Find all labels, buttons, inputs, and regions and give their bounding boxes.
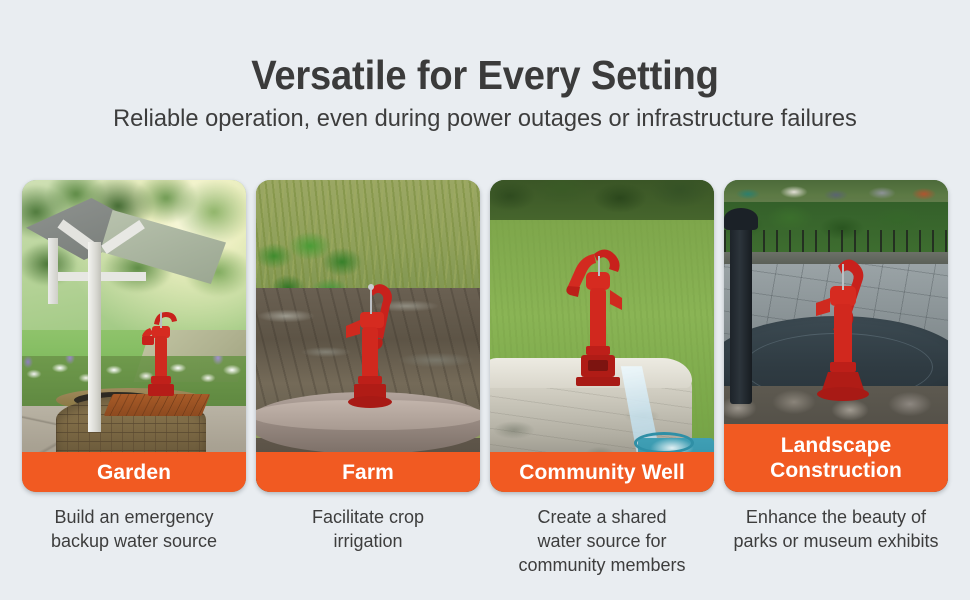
bucket-rim <box>634 432 694 454</box>
garden-post-rear <box>48 238 58 304</box>
caption-line-1: Enhance the beauty of <box>746 507 926 527</box>
card-label-garden: Garden <box>22 452 246 492</box>
garden-scene-image <box>22 180 246 492</box>
hand-pump-icon <box>340 272 396 414</box>
caption-community-well: Create a shared water source for communi… <box>490 505 714 577</box>
community-well-scene-image <box>490 180 714 492</box>
caption-line-1: Build an emergency <box>54 507 213 527</box>
caption-row: Build an emergency backup water source F… <box>22 505 948 577</box>
card-label-line-2: Construction <box>770 459 902 482</box>
hand-pump-icon <box>804 248 874 412</box>
use-case-card-farm[interactable]: Farm <box>256 180 480 492</box>
caption-line-3: community members <box>518 555 685 575</box>
farm-scene-image <box>256 180 480 492</box>
caption-line-1: Facilitate crop <box>312 507 424 527</box>
caption-line-2: irrigation <box>333 531 402 551</box>
card-label-farm: Farm <box>256 452 480 492</box>
use-case-card-row: Garden <box>22 180 948 492</box>
garden-post-front <box>88 242 101 432</box>
card-label-line-1: Landscape <box>781 434 892 457</box>
card-label-text: Garden <box>97 460 171 485</box>
landscape-iron-post <box>730 220 752 404</box>
hand-pump-icon <box>564 238 626 396</box>
card-label-text: Landscape Construction <box>770 433 902 483</box>
caption-line-2: parks or museum exhibits <box>733 531 938 551</box>
caption-line-1: Create a shared <box>537 507 666 527</box>
card-label-text: Farm <box>342 460 394 485</box>
heading-block: Versatile for Every Setting Reliable ope… <box>0 52 970 133</box>
use-case-card-landscape-construction[interactable]: Landscape Construction <box>724 180 948 492</box>
use-case-card-garden[interactable]: Garden <box>22 180 246 492</box>
caption-farm: Facilitate crop irrigation <box>256 505 480 577</box>
caption-landscape-construction: Enhance the beauty of parks or museum ex… <box>724 505 948 577</box>
promo-banner: Versatile for Every Setting Reliable ope… <box>0 0 970 600</box>
page-subtitle: Reliable operation, even during power ou… <box>7 104 962 133</box>
page-title: Versatile for Every Setting <box>34 52 936 98</box>
caption-line-2: backup water source <box>51 531 217 551</box>
card-label-landscape-construction: Landscape Construction <box>724 424 948 492</box>
card-label-text: Community Well <box>519 460 685 485</box>
caption-line-2: water source for <box>537 531 666 551</box>
hand-pump-icon <box>140 298 180 402</box>
card-label-community-well: Community Well <box>490 452 714 492</box>
use-case-card-community-well[interactable]: Community Well <box>490 180 714 492</box>
caption-garden: Build an emergency backup water source <box>22 505 246 577</box>
